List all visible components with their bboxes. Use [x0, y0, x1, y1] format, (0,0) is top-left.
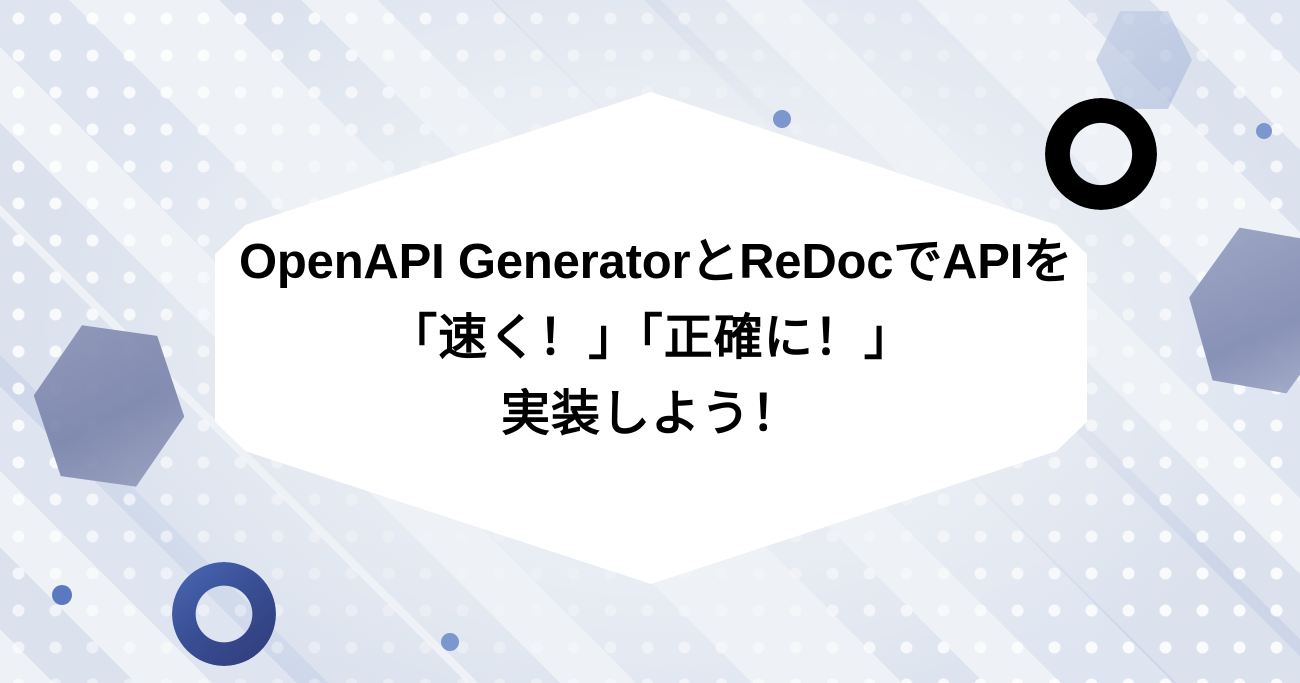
dot-top-right-icon: [1256, 123, 1272, 139]
banner-canvas: OpenAPI GeneratorとReDocでAPIを 「速く！」「正確に！」…: [0, 0, 1300, 683]
title-card: OpenAPI GeneratorとReDocでAPIを 「速く！」「正確に！」…: [215, 92, 1087, 584]
hexagon-right-icon: [1175, 216, 1300, 405]
dot-lower-center-icon: [441, 633, 459, 651]
dot-lower-left-icon: [52, 585, 72, 605]
ring-bottom-left-icon: [172, 562, 276, 666]
title-line-3: 実装しよう！: [239, 376, 1063, 452]
title-line-2: 「速く！」「正確に！」: [239, 300, 1063, 376]
ring-top-right-icon: [1045, 98, 1157, 210]
dot-upper-center-icon: [773, 110, 791, 128]
hexagon-top-right-faint-icon: [1096, 8, 1192, 112]
title-block: OpenAPI GeneratorとReDocでAPIを 「速く！」「正確に！」…: [215, 224, 1087, 452]
title-line-1: OpenAPI GeneratorとReDocでAPIを: [239, 224, 1063, 300]
hexagon-left-icon: [22, 315, 195, 497]
